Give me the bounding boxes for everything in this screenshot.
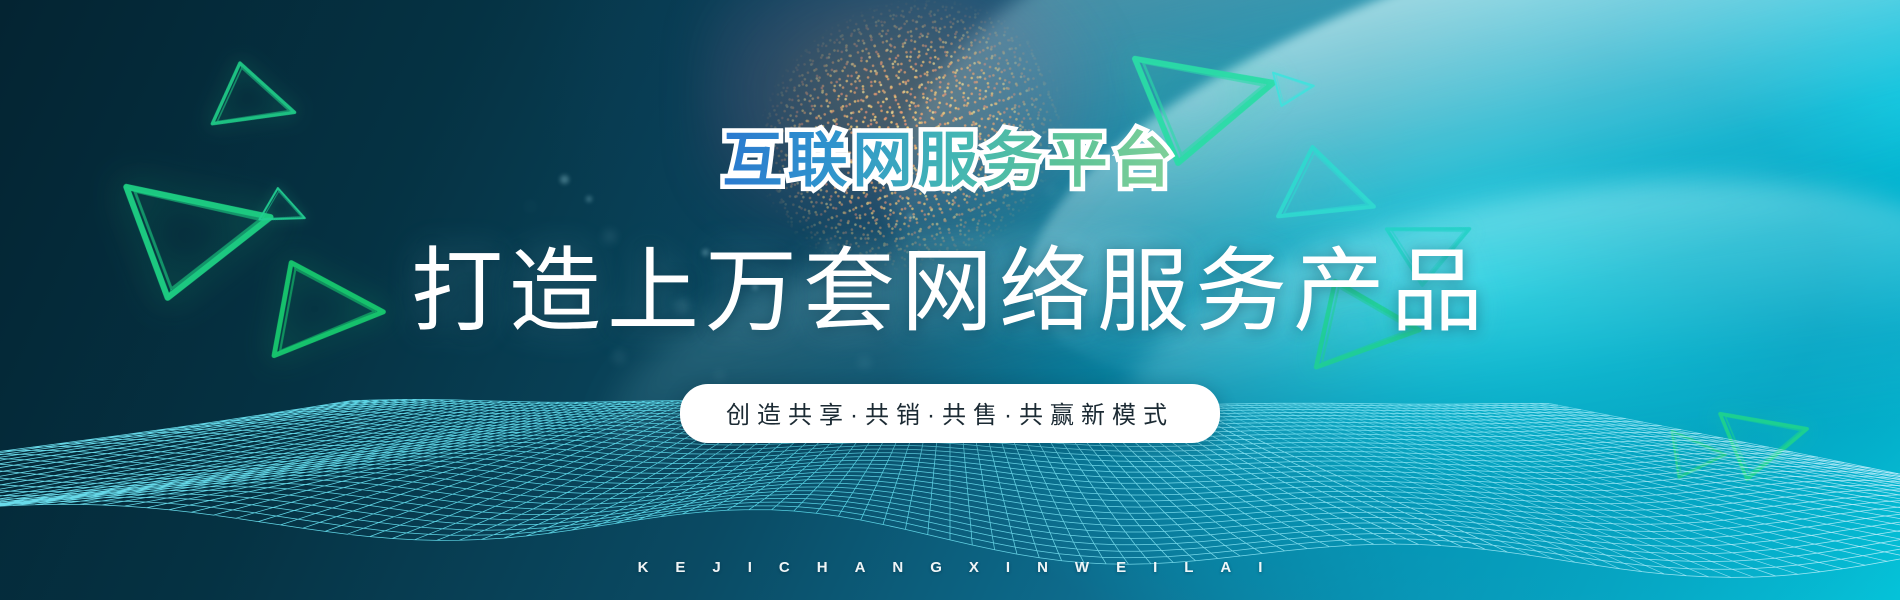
- eyebrow-title-text: 互联网服务平台: [723, 127, 1178, 194]
- headline: 打造上万套网络服务产品: [411, 217, 1489, 350]
- pinyin-caption: KEJICHANGXINWEILAI: [0, 559, 1900, 576]
- hero-banner: 互联网服务平台 互联网服务平台 打造上万套网络服务产品 创造共享·共销·共售·共…: [0, 0, 1900, 600]
- tagline-pill: 创造共享·共销·共售·共赢新模式: [680, 384, 1220, 443]
- eyebrow-title: 互联网服务平台 互联网服务平台: [723, 112, 1178, 199]
- hero-content: 互联网服务平台 互联网服务平台 打造上万套网络服务产品 创造共享·共销·共售·共…: [0, 0, 1900, 600]
